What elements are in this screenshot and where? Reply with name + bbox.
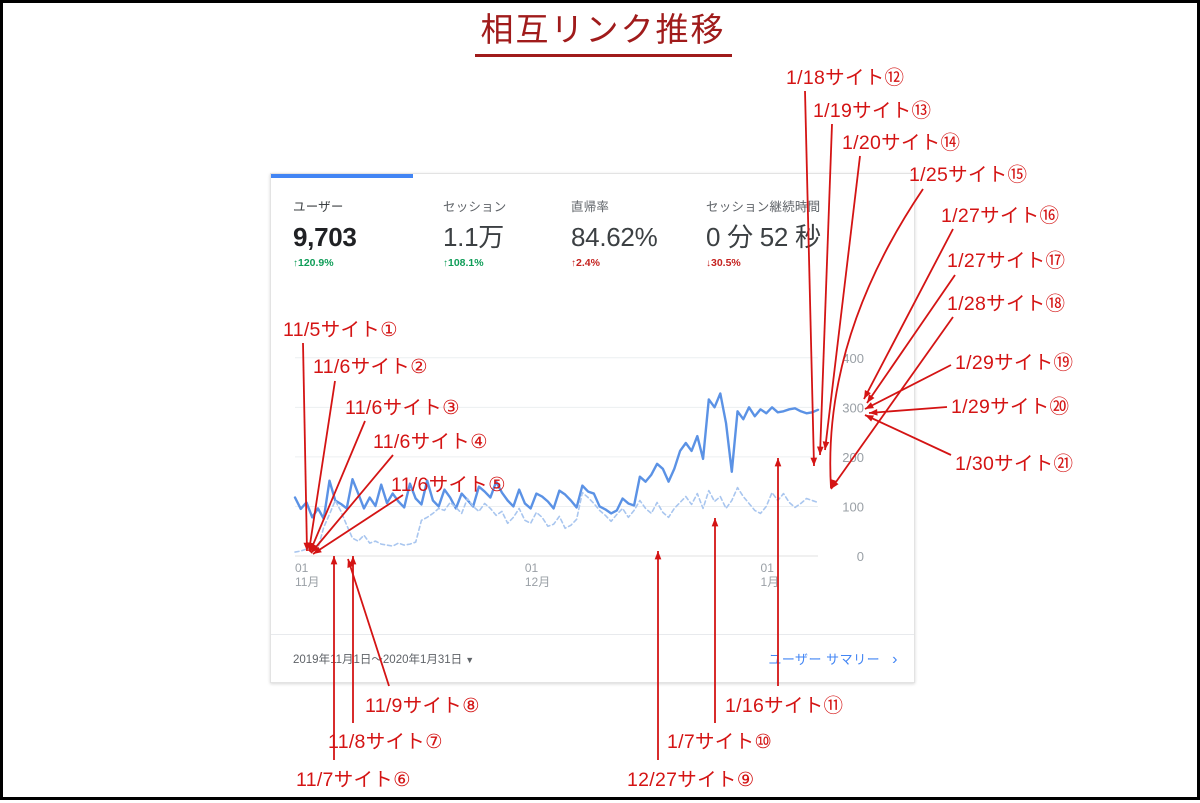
annotation-label-19: 1/29サイト⑲ <box>955 354 1073 374</box>
page-title: 相互リンク推移 <box>475 9 732 57</box>
metric-session-duration: セッション継続時間 0 分 52 秒 ↓30.5% <box>684 196 884 306</box>
annotation-label-9: 12/27サイト⑨ <box>627 771 754 791</box>
metric-users: ユーザー 9,703 ↑120.9% <box>271 196 421 306</box>
y-axis-tick-label: 200 <box>842 450 864 465</box>
metric-value: 84.62% <box>571 224 684 250</box>
user-summary-label: ユーザー サマリー <box>768 652 880 667</box>
metric-bounce-rate: 直帰率 84.62% ↑2.4% <box>549 196 684 306</box>
metric-label: 直帰率 <box>571 196 684 215</box>
x-axis-tick-label: 11月 <box>295 575 319 589</box>
metric-delta: ↑120.9% <box>293 257 421 269</box>
metric-label: セッション継続時間 <box>706 196 884 215</box>
date-range-selector[interactable]: 2019年11月1日～2020年1月31日▼ <box>293 651 474 667</box>
delta-value: 2.4% <box>576 257 600 269</box>
delta-value: 30.5% <box>711 257 741 269</box>
analytics-card: ユーザー 9,703 ↑120.9% セッション 1.1万 ↑108.1% 直帰… <box>270 173 915 683</box>
screenshot-canvas: 相互リンク推移 ユーザー 9,703 ↑120.9% セッション 1.1万 ↑1… <box>0 0 1200 800</box>
chevron-right-icon: › <box>892 651 898 668</box>
annotation-label-3: 11/6サイト③ <box>345 399 460 419</box>
annotation-label-11: 1/16サイト⑪ <box>725 697 843 717</box>
title-container: 相互リンク推移 <box>3 9 1200 57</box>
annotation-label-12: 1/18サイト⑫ <box>786 69 904 89</box>
annotation-label-6: 11/7サイト⑥ <box>296 771 411 791</box>
delta-value: 108.1% <box>448 257 484 269</box>
x-axis-tick-label: 01 <box>295 561 309 575</box>
annotation-label-8: 11/9サイト⑧ <box>365 697 480 717</box>
metric-delta: ↓30.5% <box>706 257 884 269</box>
chevron-down-icon: ▼ <box>465 655 474 665</box>
annotation-label-5: 11/6サイト⑤ <box>391 476 506 496</box>
annotation-label-15: 1/25サイト⑮ <box>909 166 1027 186</box>
x-axis-tick-label: 01 <box>761 561 775 575</box>
annotation-label-10: 1/7サイト⑩ <box>667 733 772 753</box>
metric-delta: ↑108.1% <box>443 257 549 269</box>
y-axis-tick-label: 300 <box>842 400 864 415</box>
annotation-label-21: 1/30サイト㉑ <box>955 455 1073 475</box>
metric-value: 1.1万 <box>443 224 549 250</box>
metric-sessions: セッション 1.1万 ↑108.1% <box>421 196 549 306</box>
annotation-label-18: 1/28サイト⑱ <box>947 295 1065 315</box>
x-axis-tick-label: 1月 <box>761 575 780 589</box>
metric-label: セッション <box>443 196 549 215</box>
y-axis-tick-label: 0 <box>857 549 864 564</box>
y-axis-tick-label: 400 <box>842 351 864 366</box>
date-range-text: 2019年11月1日～2020年1月31日 <box>293 654 462 666</box>
metric-delta: ↑2.4% <box>571 257 684 269</box>
annotation-label-13: 1/19サイト⑬ <box>813 102 931 122</box>
x-axis-tick-label: 12月 <box>525 575 550 589</box>
card-accent-bar <box>271 174 413 178</box>
x-axis-tick-label: 01 <box>525 561 539 575</box>
user-summary-link[interactable]: ユーザー サマリー› <box>768 649 898 669</box>
annotation-label-4: 11/6サイト④ <box>373 433 488 453</box>
annotation-label-16: 1/27サイト⑯ <box>941 207 1059 227</box>
metric-value: 9,703 <box>293 224 421 250</box>
card-footer: 2019年11月1日～2020年1月31日▼ ユーザー サマリー› <box>271 634 915 682</box>
annotation-label-1: 11/5サイト① <box>283 321 398 341</box>
metric-label: ユーザー <box>293 196 421 215</box>
metrics-row: ユーザー 9,703 ↑120.9% セッション 1.1万 ↑108.1% 直帰… <box>271 196 915 306</box>
annotation-label-14: 1/20サイト⑭ <box>842 134 960 154</box>
delta-value: 120.9% <box>298 257 334 269</box>
annotation-label-2: 11/6サイト② <box>313 358 428 378</box>
y-axis-tick-label: 100 <box>842 499 864 514</box>
metric-value: 0 分 52 秒 <box>706 224 884 250</box>
annotation-label-20: 1/29サイト⑳ <box>951 398 1069 418</box>
annotation-label-7: 11/8サイト⑦ <box>328 733 443 753</box>
annotation-label-17: 1/27サイト⑰ <box>947 252 1065 272</box>
